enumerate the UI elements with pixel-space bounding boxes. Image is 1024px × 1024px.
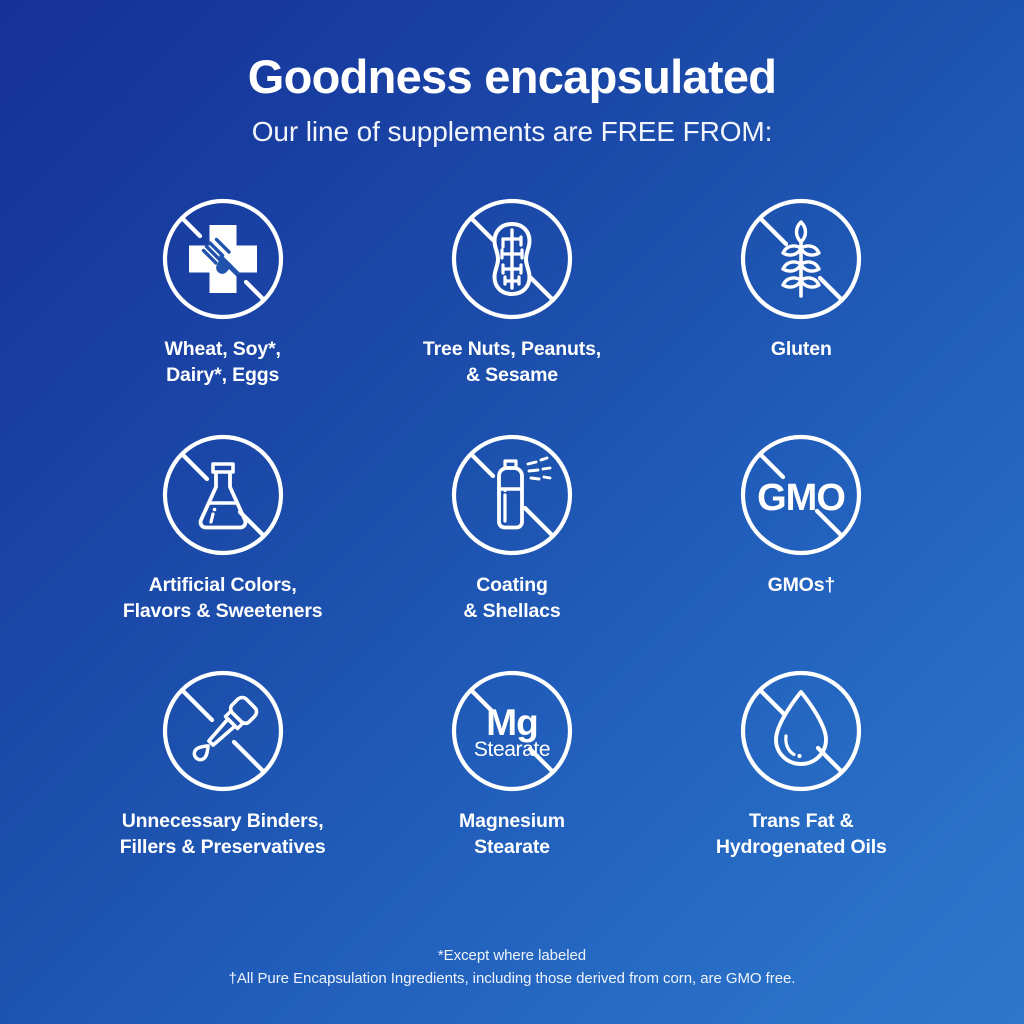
footnote-asterisk: *Except where labeled: [0, 944, 1024, 967]
no-gmo-icon: GMO: [738, 432, 864, 558]
svg-text:Stearate: Stearate: [474, 738, 550, 761]
grid-item-gluten: Gluten: [657, 196, 946, 432]
grid-item-allergens: Wheat, Soy*, Dairy*, Eggs: [78, 196, 367, 432]
grid-item-label: Magnesium Stearate: [459, 809, 565, 860]
grid-item-label: Artificial Colors, Flavors & Sweeteners: [123, 573, 323, 624]
grid-item-artificial-colors: Artificial Colors, Flavors & Sweeteners: [78, 432, 367, 668]
grid-item-label: Trans Fat & Hydrogenated Oils: [716, 809, 887, 860]
page-title: Goodness encapsulated: [0, 52, 1024, 102]
footnote-dagger: †All Pure Encapsulation Ingredients, inc…: [0, 967, 1024, 990]
header: Goodness encapsulated Our line of supple…: [0, 0, 1024, 148]
grid-item-label: GMOs†: [768, 573, 836, 599]
no-wheat-stalk-icon: [738, 196, 864, 322]
grid-item-binders: Unnecessary Binders, Fillers & Preservat…: [78, 668, 367, 904]
no-allergen-cross-fork-icon: [160, 196, 286, 322]
page-subtitle: Our line of supplements are FREE FROM:: [0, 116, 1024, 148]
no-spray-can-icon: [449, 432, 575, 558]
grid-item-magnesium-stearate: Mg Stearate Magnesium Stearate: [367, 668, 656, 904]
grid-item-label: Tree Nuts, Peanuts, & Sesame: [423, 337, 601, 388]
grid-item-label: Wheat, Soy*, Dairy*, Eggs: [165, 337, 281, 388]
grid-item-label: Gluten: [771, 337, 832, 363]
no-flask-icon: [160, 432, 286, 558]
grid-item-label: Coating & Shellacs: [463, 573, 560, 624]
no-peanut-icon: [449, 196, 575, 322]
grid-item-coating: Coating & Shellacs: [367, 432, 656, 668]
no-oil-droplet-icon: [738, 668, 864, 794]
infographic-page: Goodness encapsulated Our line of supple…: [0, 0, 1024, 1024]
grid-item-nuts: Tree Nuts, Peanuts, & Sesame: [367, 196, 656, 432]
grid-item-trans-fat: Trans Fat & Hydrogenated Oils: [657, 668, 946, 904]
no-dropper-icon: [160, 668, 286, 794]
grid-item-label: Unnecessary Binders, Fillers & Preservat…: [120, 809, 326, 860]
grid-item-gmo: GMO GMOs†: [657, 432, 946, 668]
free-from-grid: Wheat, Soy*, Dairy*, Eggs: [78, 196, 946, 904]
svg-text:GMO: GMO: [757, 477, 845, 519]
no-magnesium-stearate-icon: Mg Stearate: [449, 668, 575, 794]
footnotes: *Except where labeled †All Pure Encapsul…: [0, 944, 1024, 991]
svg-text:Mg: Mg: [486, 702, 537, 743]
